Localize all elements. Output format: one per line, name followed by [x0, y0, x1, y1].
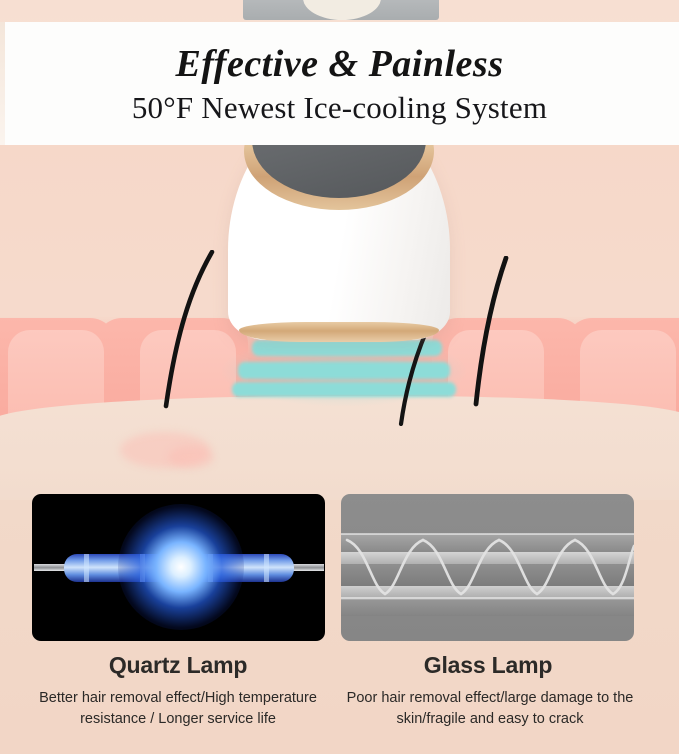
headline-text: Effective & Painless: [175, 42, 503, 86]
device-gold-base: [239, 322, 439, 342]
glass-lamp-panel: [341, 494, 634, 641]
dermis-blotch: [168, 446, 214, 468]
glass-lamp-title: Glass Lamp: [338, 652, 638, 679]
banner-left-edge: [0, 22, 5, 145]
glass-filament-coil: [341, 494, 634, 641]
hair-strand-right: [468, 256, 538, 408]
hair-strand-center: [392, 330, 438, 426]
quartz-lamp-description: Better hair removal effect/High temperat…: [22, 688, 334, 729]
headline-banner: Effective & Painless 50°F Newest Ice-coo…: [0, 22, 679, 145]
dermis-layer: [0, 396, 679, 500]
quartz-tube-ring: [84, 554, 89, 582]
hair-strand-left: [150, 250, 230, 410]
product-marketing-image: ❄ Effective & Painless 50°F Newest Ice-c…: [0, 0, 679, 754]
glass-lamp-description: Poor hair removal effect/large damage to…: [334, 688, 646, 729]
quartz-glow: [118, 504, 244, 630]
quartz-tube-ring: [264, 554, 269, 582]
quartz-lamp-title: Quartz Lamp: [28, 652, 328, 679]
quartz-lamp-panel: [32, 494, 325, 641]
lamp-comparison-section: Quartz Lamp Better hair removal effect/H…: [0, 500, 679, 754]
subheadline-text: 50°F Newest Ice-cooling System: [132, 90, 547, 126]
